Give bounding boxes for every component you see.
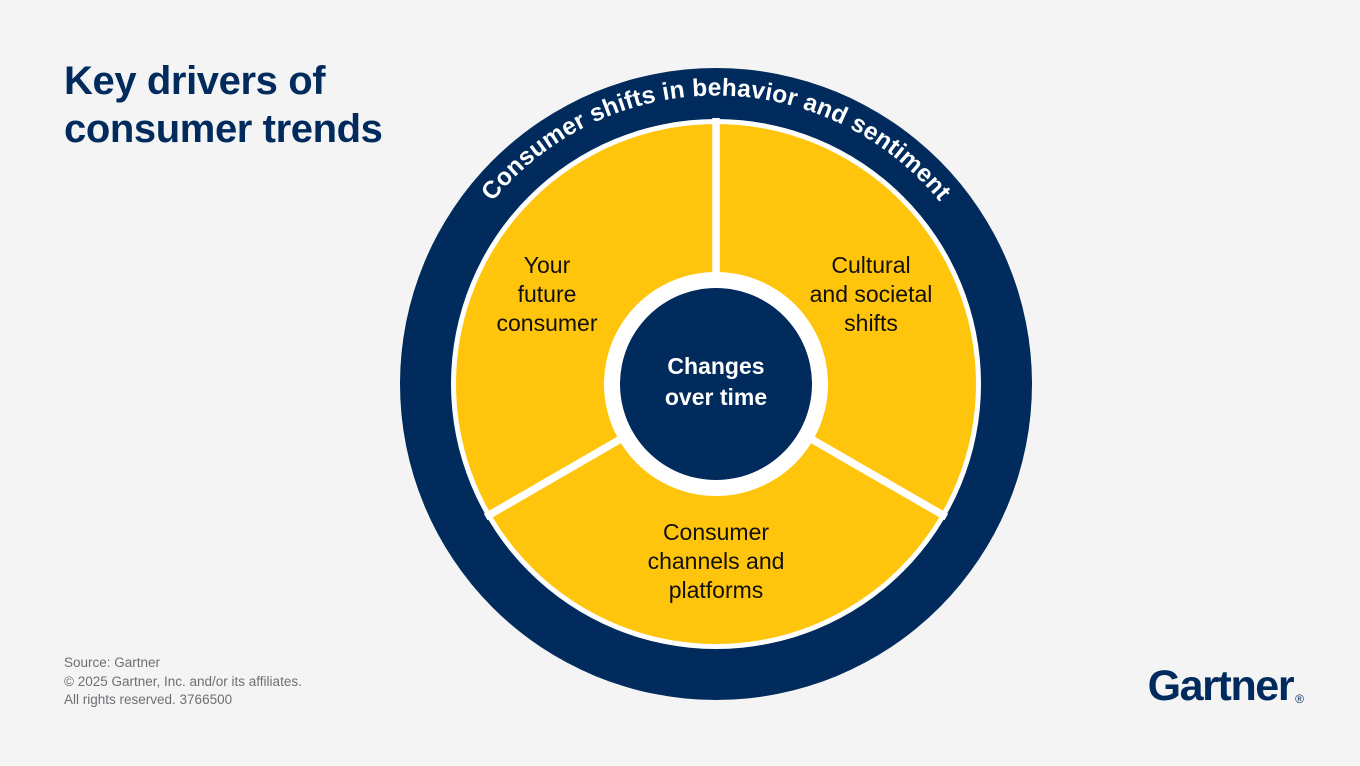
gartner-wordmark: Gartner xyxy=(1148,665,1294,708)
segment-2-line-3: shifts xyxy=(844,310,898,336)
segment-3-line-2: channels and xyxy=(648,548,785,574)
segment-1-line-1: Your xyxy=(524,252,571,278)
registered-trademark-icon: ® xyxy=(1295,693,1304,705)
segment-3-line-3: platforms xyxy=(669,577,764,603)
hub-label-line-1: Changes xyxy=(667,353,764,379)
segment-2-line-1: Cultural xyxy=(831,252,910,278)
segment-2-line-2: and societal xyxy=(810,281,933,307)
segment-3-line-1: Consumer xyxy=(663,519,769,545)
segment-1-line-3: consumer xyxy=(497,310,598,336)
segment-1-line-2: future xyxy=(518,281,577,307)
footer-source-note: Source: Gartner © 2025 Gartner, Inc. and… xyxy=(64,654,302,710)
gartner-logo: Gartner ® xyxy=(1148,665,1304,708)
consumer-trends-donut-diagram: Consumer shifts in behavior and sentimen… xyxy=(0,0,1360,766)
hub-label-line-2: over time xyxy=(665,384,767,410)
